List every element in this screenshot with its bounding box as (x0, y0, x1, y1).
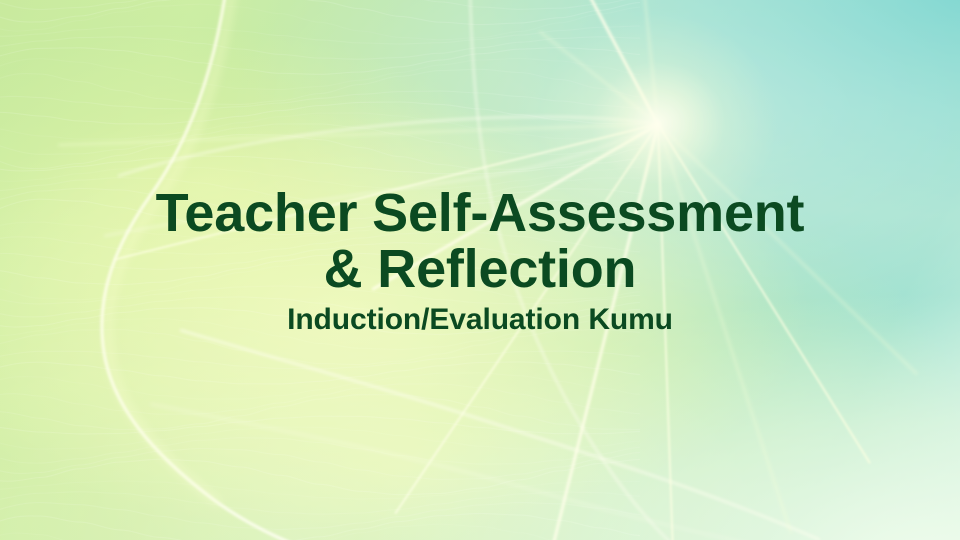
page-subtitle: Induction/Evaluation Kumu (0, 303, 960, 338)
page-title: Teacher Self-Assessment & Reflection (0, 186, 960, 297)
title-slide: Teacher Self-Assessment & Reflection Ind… (0, 0, 960, 540)
title-block: Teacher Self-Assessment & Reflection Ind… (0, 186, 960, 338)
